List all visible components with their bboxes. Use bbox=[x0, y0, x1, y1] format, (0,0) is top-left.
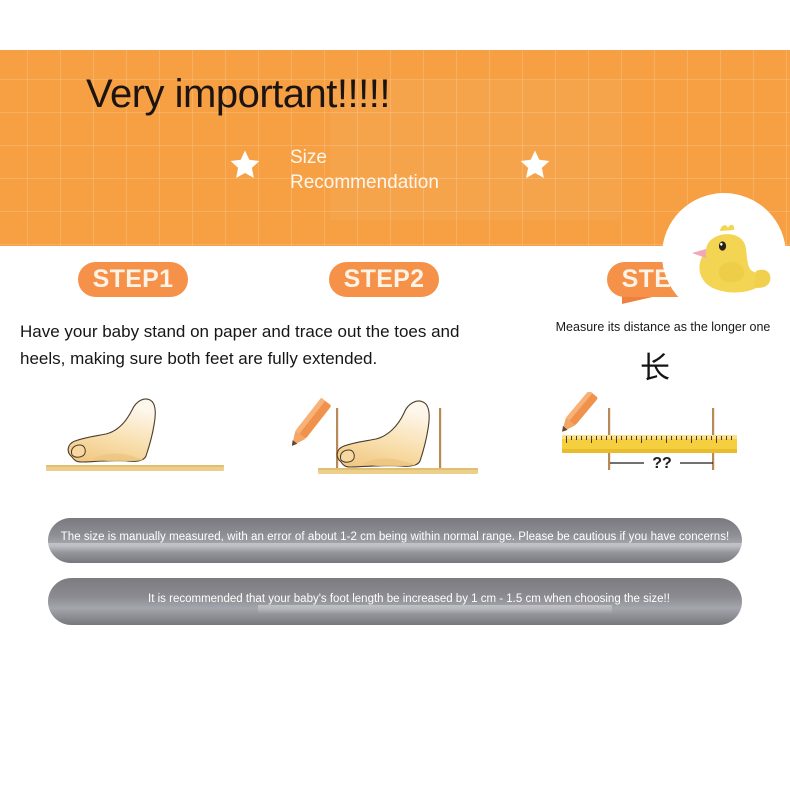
step-2-pill: STEP2 bbox=[329, 262, 439, 297]
note-text-measurement-error: The size is manually measured, with an e… bbox=[61, 531, 730, 543]
subtitle-line-1: Size bbox=[290, 145, 520, 170]
measure-label: ?? bbox=[652, 455, 672, 472]
subtitle-block: Size Recommendation bbox=[290, 145, 520, 195]
duck-icon bbox=[662, 193, 786, 317]
step-3-description: Measure its distance as the longer one bbox=[548, 319, 778, 336]
star-icon-left bbox=[228, 148, 262, 182]
foot-traced-with-pencil-icon bbox=[288, 390, 488, 491]
note-banner-size-recommendation: It is recommended that your baby's foot … bbox=[48, 578, 742, 625]
foot-on-paper-icon bbox=[40, 392, 230, 485]
note-banner-gloss bbox=[258, 605, 612, 614]
step-1-description: Have your baby stand on paper and trace … bbox=[20, 318, 490, 372]
note-text-size-recommendation: It is recommended that your baby's foot … bbox=[148, 593, 670, 605]
note-banner-gloss bbox=[48, 543, 742, 552]
ruler-measure-icon: ?? bbox=[552, 392, 752, 487]
subtitle-line-2: Recommendation bbox=[290, 170, 520, 195]
step-3-cn-label: 长 bbox=[600, 352, 710, 386]
star-icon-right bbox=[518, 148, 552, 182]
note-banner-measurement-error: The size is manually measured, with an e… bbox=[48, 518, 742, 563]
page-title: Very important!!!!! bbox=[86, 70, 390, 118]
step-1-pill: STEP1 bbox=[78, 262, 188, 297]
